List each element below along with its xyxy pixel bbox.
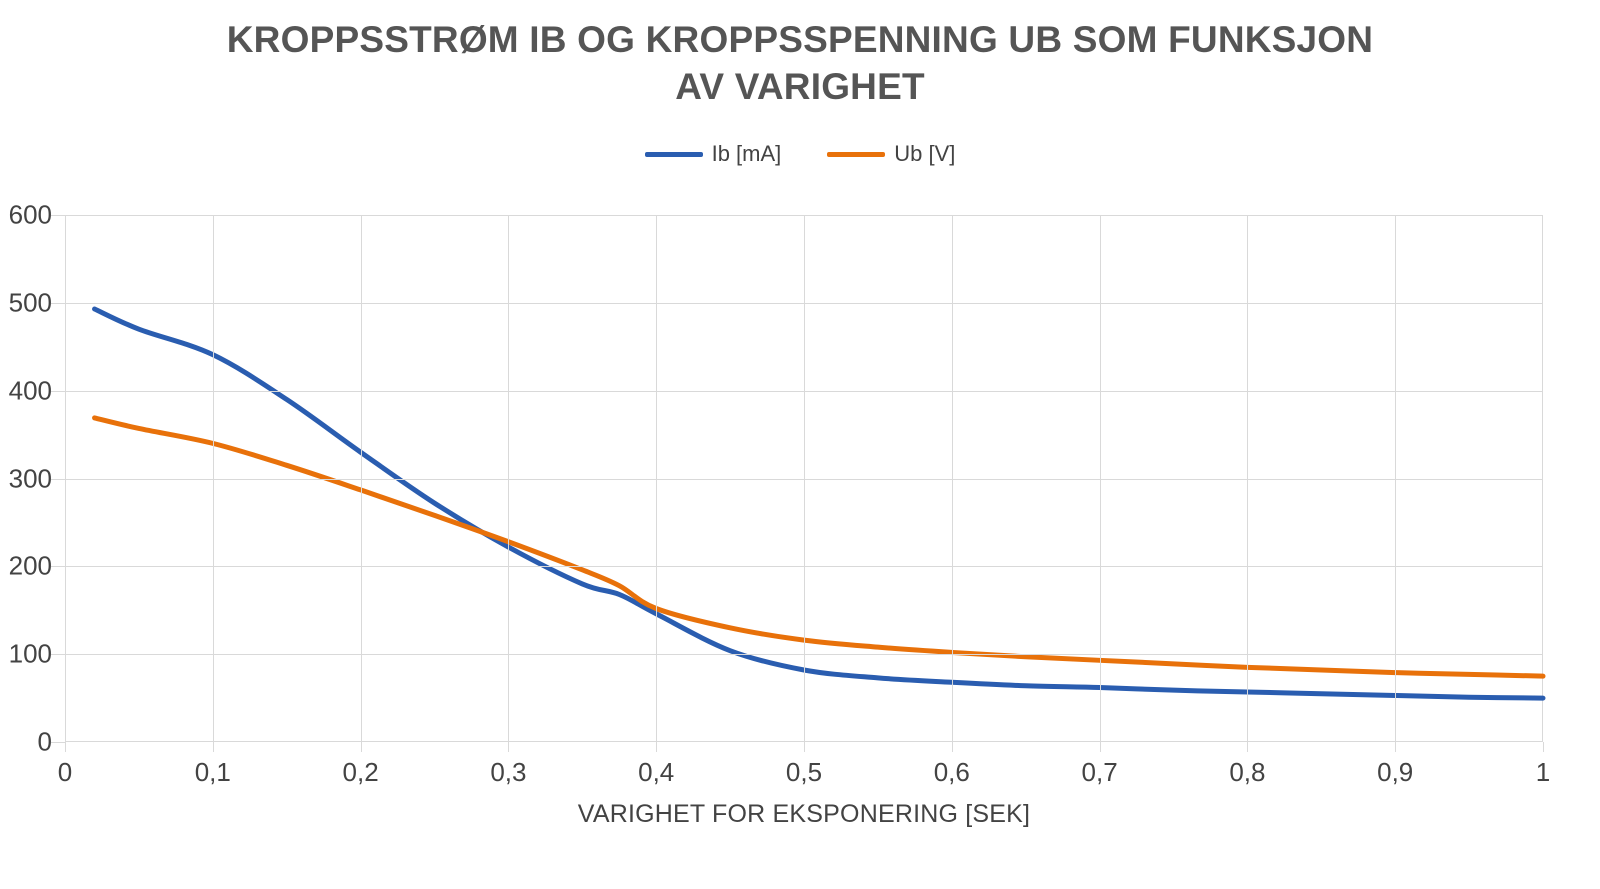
y-axis-tick [51,391,65,392]
x-axis-tick-label: 0,9 [1377,757,1413,788]
x-axis-tick-label: 0,3 [490,757,526,788]
y-axis-labels: 0100200300400500600 [0,215,52,742]
y-axis-tick-label: 400 [9,375,52,406]
x-axis-tick [1247,742,1248,752]
chart-legend: Ib [mA]Ub [V] [0,143,1600,165]
gridline-vertical [508,215,509,742]
y-axis-tick [51,303,65,304]
x-axis-tick [361,742,362,752]
plot-area [65,215,1543,742]
x-axis-tick-label: 1 [1536,757,1550,788]
x-axis-tick [1100,742,1101,752]
y-axis-tick-label: 0 [38,727,52,758]
legend-item[interactable]: Ib [mA] [645,143,782,165]
x-axis-tick-label: 0,2 [343,757,379,788]
legend-label: Ib [mA] [712,143,782,165]
x-axis-tick [1543,742,1544,752]
x-axis-tick [508,742,509,752]
x-axis-tick [656,742,657,752]
x-axis-tick-label: 0,5 [786,757,822,788]
gridline-vertical [1247,215,1248,742]
x-axis-tick [804,742,805,752]
gridline-vertical [656,215,657,742]
x-axis-tick [213,742,214,752]
x-axis-title: VARIGHET FOR EKSPONERING [SEK] [65,800,1543,829]
x-axis-labels: 00,10,20,30,40,50,60,70,80,91 [65,757,1543,791]
x-axis-tick-label: 0 [58,757,72,788]
x-axis-tick-label: 0,1 [195,757,231,788]
x-axis-tick-label: 0,7 [1082,757,1118,788]
y-axis-tick-label: 300 [9,463,52,494]
legend-label: Ub [V] [894,143,955,165]
chart-title-text: KROPPSSTRØM IB OG KROPPSSPENNING UB SOM … [227,19,1373,60]
legend-item[interactable]: Ub [V] [827,143,955,165]
x-axis-tick [1395,742,1396,752]
gridline-vertical [361,215,362,742]
gridline-vertical [213,215,214,742]
x-axis-tick-label: 0,6 [934,757,970,788]
chart-title-text-line2: AV VARIGHET [675,66,925,107]
gridline-vertical [1395,215,1396,742]
y-axis-tick-label: 600 [9,200,52,231]
x-axis-tick-label: 0,8 [1229,757,1265,788]
legend-swatch-icon [645,152,703,157]
y-axis-tick-label: 200 [9,551,52,582]
y-axis-tick [51,566,65,567]
x-axis-tick [65,742,66,752]
x-axis-tick-label: 0,4 [638,757,674,788]
chart-title: KROPPSSTRØM IB OG KROPPSSPENNING UB SOM … [0,16,1600,111]
gridline-vertical [1100,215,1101,742]
y-axis-tick [51,215,65,216]
series-line-ub [95,418,1543,676]
y-axis-tick-label: 500 [9,287,52,318]
gridline-vertical [804,215,805,742]
y-axis-tick [51,742,65,743]
y-axis-tick [51,654,65,655]
legend-swatch-icon [827,152,885,157]
chart-container: KROPPSSTRØM IB OG KROPPSSPENNING UB SOM … [0,0,1600,889]
gridline-vertical [952,215,953,742]
y-axis-tick-label: 100 [9,639,52,670]
y-axis-tick [51,479,65,480]
x-axis-tick [952,742,953,752]
